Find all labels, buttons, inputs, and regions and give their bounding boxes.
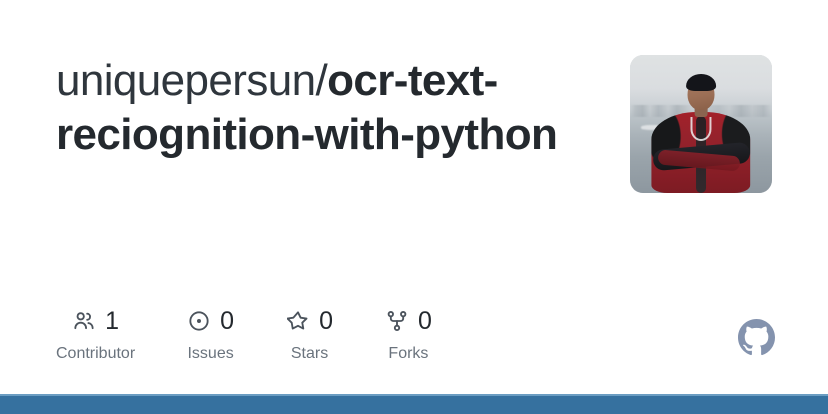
repository-stats: 1 Contributor 0 Issues: [56, 306, 772, 364]
stat-forks-label: Forks: [388, 344, 428, 364]
stat-issues[interactable]: 0 Issues: [187, 306, 234, 364]
stat-issues-top: 0: [187, 306, 234, 336]
stat-forks-top: 0: [385, 306, 432, 336]
stat-stars[interactable]: 0 Stars: [286, 306, 333, 364]
stat-issues-label: Issues: [187, 344, 233, 364]
stat-contributors-label: Contributor: [56, 344, 135, 364]
stat-stars-top: 0: [286, 306, 333, 336]
stat-issues-value: 0: [220, 307, 234, 335]
accent-bar: [0, 396, 828, 414]
stat-contributors-top: 1: [72, 306, 119, 336]
avatar-hair: [686, 74, 716, 91]
avatar-lanyard: [690, 117, 711, 141]
repo-forked-icon: [385, 309, 409, 333]
people-icon: [72, 309, 96, 333]
avatar-photo: [630, 55, 772, 193]
stat-forks[interactable]: 0 Forks: [385, 306, 432, 364]
stat-forks-value: 0: [418, 307, 432, 335]
header-row: uniquepersun/ocr-text-reciognition-with-…: [56, 52, 772, 193]
repo-owner[interactable]: uniquepersun: [56, 56, 315, 105]
repository-social-preview-card: uniquepersun/ocr-text-reciognition-with-…: [0, 0, 828, 414]
stat-stars-label: Stars: [291, 344, 328, 364]
github-logo-icon: [738, 319, 775, 356]
stat-stars-value: 0: [319, 307, 333, 335]
issue-opened-icon: [187, 309, 211, 333]
stat-contributors-value: 1: [105, 307, 119, 335]
repo-separator: /: [315, 56, 327, 105]
page-title: uniquepersun/ocr-text-reciognition-with-…: [56, 52, 616, 162]
stat-contributors[interactable]: 1 Contributor: [56, 306, 135, 364]
avatar[interactable]: [630, 55, 772, 193]
star-icon: [286, 309, 310, 333]
